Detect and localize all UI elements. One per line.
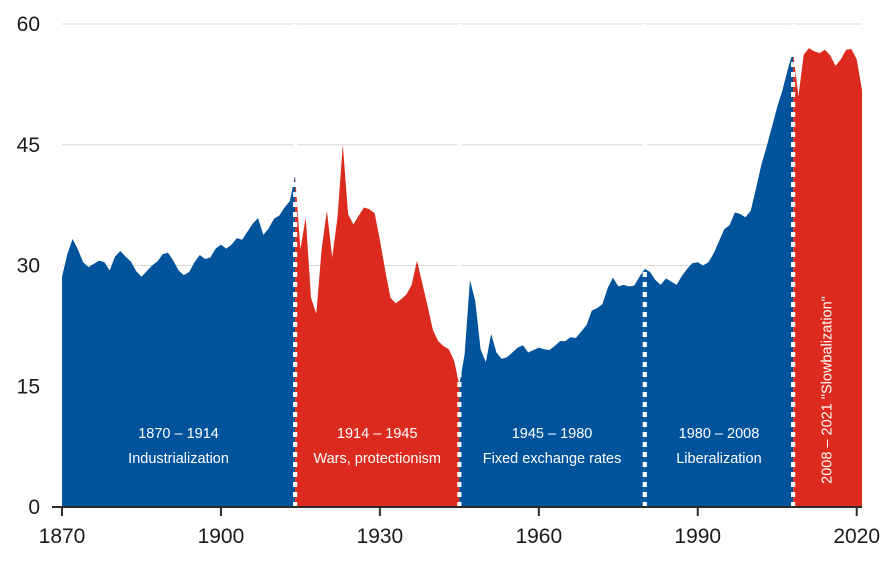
- area-segment-fixed-exchange-rates: [459, 269, 644, 507]
- y-axis-ticklabels: 015304560: [17, 13, 40, 519]
- x-tick-label-1900: 1900: [198, 525, 245, 548]
- chart-container: 1870 – 1914Industrialization1914 – 1945W…: [0, 0, 889, 566]
- y-tick-label-45: 45: [17, 134, 40, 157]
- x-tick-label-1870: 1870: [39, 525, 86, 548]
- x-tick-label-1930: 1930: [357, 525, 404, 548]
- x-tick-label-2020: 2020: [833, 525, 880, 548]
- era-range-label-industrialization: 1870 – 1914: [138, 426, 219, 442]
- axes-group: [52, 507, 862, 516]
- x-axis-ticklabels: 187019001930196019902020: [39, 525, 880, 548]
- era-name-label-industrialization: Industrialization: [128, 451, 229, 467]
- y-tick-label-15: 15: [17, 375, 40, 398]
- trade-openness-area-chart: 1870 – 1914Industrialization1914 – 1945W…: [0, 0, 889, 566]
- y-tick-label-30: 30: [17, 255, 40, 278]
- era-name-label-wars-protectionism: Wars, protectionism: [313, 451, 441, 467]
- era-range-label-wars-protectionism: 1914 – 1945: [337, 426, 418, 442]
- y-tick-label-60: 60: [17, 13, 40, 36]
- era-name-label-fixed-exchange-rates: Fixed exchange rates: [483, 451, 622, 467]
- x-tick-label-1960: 1960: [515, 525, 562, 548]
- era-name-label-liberalization: Liberalization: [676, 451, 761, 467]
- era-label-slowbalization: 2008 – 2021 "Slowbalization": [819, 296, 835, 484]
- era-range-label-fixed-exchange-rates: 1945 – 1980: [512, 426, 593, 442]
- y-tick-label-0: 0: [28, 496, 40, 519]
- era-range-label-liberalization: 1980 – 2008: [679, 426, 760, 442]
- x-tick-label-1990: 1990: [674, 525, 721, 548]
